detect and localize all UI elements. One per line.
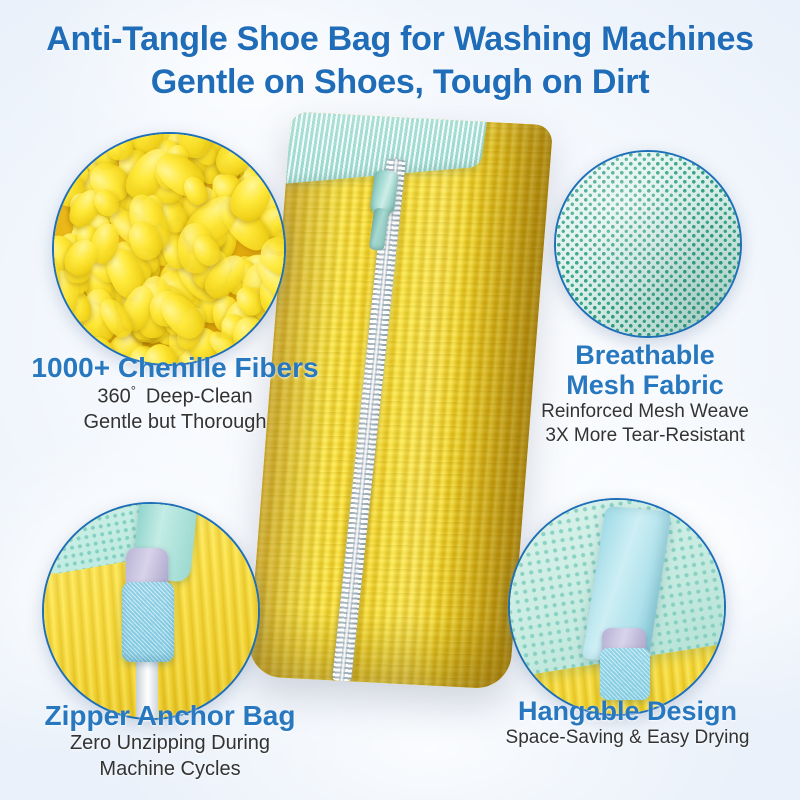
feature-anchor-heading: Zipper Anchor Bag xyxy=(0,700,340,731)
chenille-fiber-circle xyxy=(52,132,286,366)
feature-chenille-heading: 1000+ Chenille Fibers xyxy=(0,352,350,383)
feature-mesh: Breathable Mesh Fabric Reinforced Mesh W… xyxy=(490,340,800,448)
feature-hangable-heading: Hangable Design xyxy=(455,696,800,726)
product-infographic: Anti-Tangle Shoe Bag for Washing Machine… xyxy=(0,0,800,800)
chenille-deepclean-label: Deep-Clean xyxy=(146,386,253,408)
zipper-anchor-circle xyxy=(42,502,260,720)
feature-chenille-sub-1: 360°Deep-Clean xyxy=(0,383,350,410)
feature-anchor-sub-2: Machine Cycles xyxy=(0,757,340,782)
mesh-fabric-circle xyxy=(554,150,742,338)
feature-chenille-sub-2: Gentle but Thorough xyxy=(0,410,350,435)
mesh-shading xyxy=(556,152,740,336)
zipper-pull-tab xyxy=(369,208,389,251)
feature-mesh-sub-1: Reinforced Mesh Weave xyxy=(490,400,800,424)
feature-mesh-heading-line-1: Breathable xyxy=(490,340,800,370)
feature-zipper-anchor: Zipper Anchor Bag Zero Unzipping During … xyxy=(0,700,340,782)
page-title: Anti-Tangle Shoe Bag for Washing Machine… xyxy=(0,18,800,103)
anchor-pocket xyxy=(122,582,174,662)
degree-icon: ° xyxy=(131,383,136,398)
hangable-design-circle xyxy=(508,498,726,716)
feature-hangable: Hangable Design Space-Saving & Easy Dryi… xyxy=(455,696,800,750)
feature-hangable-sub-1: Space-Saving & Easy Drying xyxy=(455,726,800,750)
feature-mesh-heading-line-2: Mesh Fabric xyxy=(490,370,800,400)
chenille-degrees-value: 360 xyxy=(97,386,130,408)
bag-shadow-bottom xyxy=(247,606,514,690)
feature-chenille: 1000+ Chenille Fibers 360°Deep-Clean Gen… xyxy=(0,352,350,435)
hang-anchor-pocket xyxy=(600,648,650,700)
feature-anchor-sub-1: Zero Unzipping During xyxy=(0,731,340,756)
feature-mesh-sub-2: 3X More Tear-Resistant xyxy=(490,424,800,448)
title-line-1: Anti-Tangle Shoe Bag for Washing Machine… xyxy=(0,18,800,61)
title-line-2: Gentle on Shoes, Tough on Dirt xyxy=(0,61,800,104)
